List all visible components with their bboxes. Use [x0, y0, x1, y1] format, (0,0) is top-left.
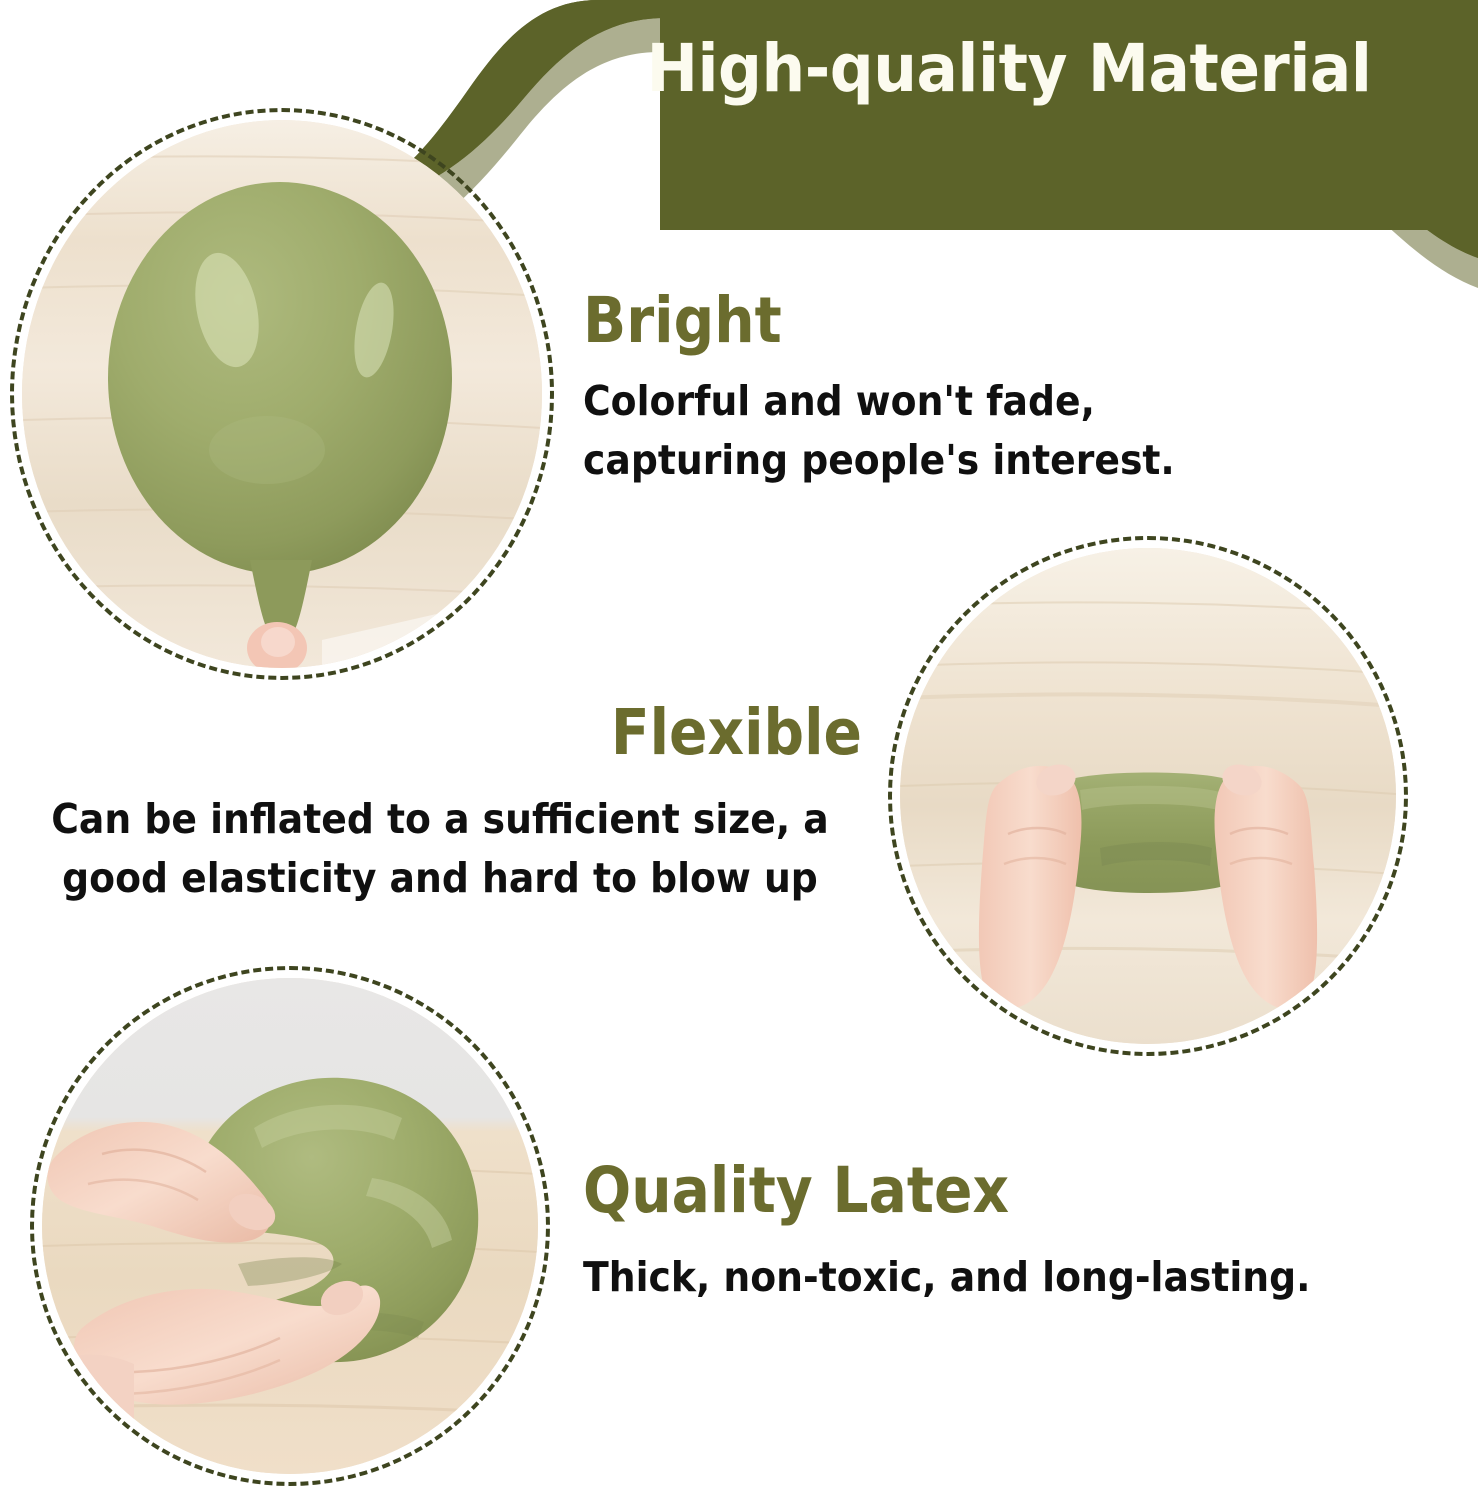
feature-body-line: good elasticity and hard to blow up	[35, 849, 845, 908]
balloon-stretched-photo	[900, 548, 1396, 1044]
feature-body-line: Can be inflated to a sufficient size, a	[35, 790, 845, 849]
feature-body-flexible: Can be inflated to a sufficient size, a …	[35, 790, 845, 909]
feature-image-bright	[22, 120, 542, 668]
feature-image-flexible	[900, 548, 1396, 1044]
infographic-page: High-quality Material	[0, 0, 1478, 1500]
feature-body-quality-latex: Thick, non-toxic, and long-lasting.	[583, 1248, 1347, 1307]
feature-body-line: Thick, non-toxic, and long-lasting.	[583, 1248, 1347, 1307]
feature-body-line: capturing people's interest.	[583, 431, 1282, 490]
feature-image-quality-latex	[42, 978, 538, 1474]
balloon-squeezed-photo	[42, 978, 538, 1474]
banner-top-block	[660, 0, 1478, 230]
feature-heading-bright: Bright	[583, 288, 782, 354]
banner-fill	[341, 0, 1478, 258]
forearm	[42, 1355, 134, 1474]
feature-heading-quality-latex: Quality Latex	[583, 1158, 1009, 1224]
feature-heading-flexible: Flexible	[611, 700, 862, 766]
feature-body-line: Colorful and won't fade,	[583, 372, 1282, 431]
feature-body-bright: Colorful and won't fade, capturing peopl…	[583, 372, 1282, 491]
balloon-body	[108, 182, 452, 574]
balloon-inflated-photo	[22, 120, 542, 668]
balloon-sheen	[209, 416, 325, 484]
banner-shadow-wave	[345, 0, 1478, 288]
banner-main-shape	[341, 0, 1478, 258]
page-title: High-quality Material	[573, 36, 1445, 102]
